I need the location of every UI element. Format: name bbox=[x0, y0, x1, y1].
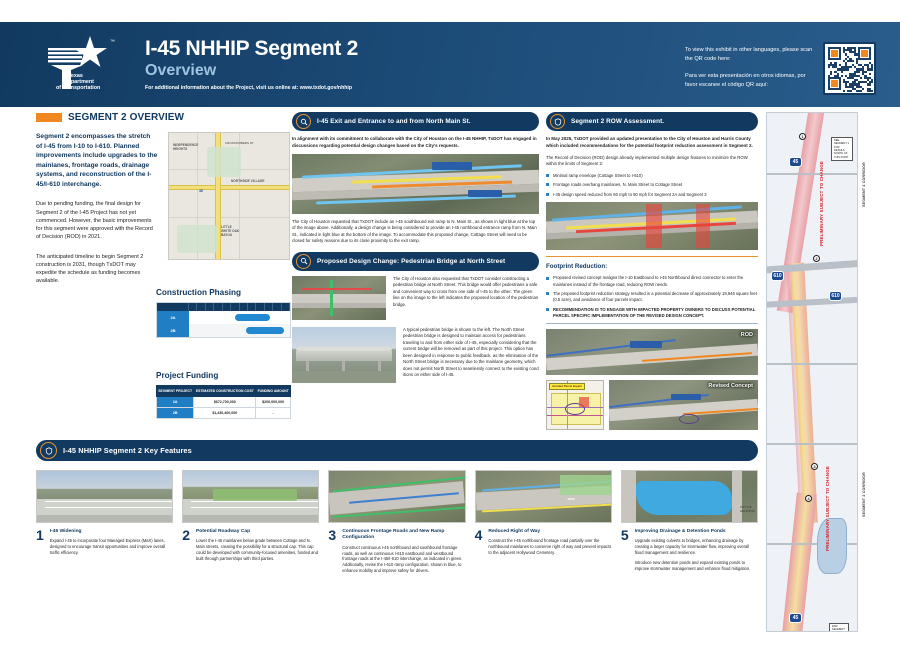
footprint-reduction-title: Footprint Reduction: bbox=[546, 263, 758, 270]
map-shield-i610-east: 610 bbox=[829, 291, 842, 301]
table-row: 2A$672,700,000$200,000,000 bbox=[157, 397, 291, 408]
banner-north-main-ramps: I-45 Exit and Entrance to and from North… bbox=[292, 112, 539, 131]
key-feature-card: NEW4Reduced Right of WayConstruct the I-… bbox=[475, 470, 612, 574]
page-header: ™ Texas Department of Transportation I-4… bbox=[0, 22, 900, 107]
funding-column-header: ESTIMATED CONSTRUCTION COST bbox=[194, 386, 256, 397]
pedestrian-bridge-rendering bbox=[292, 327, 396, 383]
overview-lead-paragraph: Segment 2 encompasses the stretch of I-4… bbox=[36, 132, 158, 189]
qr-module bbox=[828, 75, 830, 77]
footprint-bullet-list: Proposed revised concept realigns the I-… bbox=[546, 275, 758, 319]
key-feature-number: 5 bbox=[621, 529, 629, 571]
list-item: I-45 design speed reduced from 60 mph to… bbox=[546, 192, 758, 198]
shield-icon bbox=[40, 442, 57, 459]
funding-cost: $1,430,400,000 bbox=[194, 408, 256, 419]
gantt-track bbox=[189, 324, 290, 337]
rod-image: ROD bbox=[546, 329, 758, 375]
qr-module bbox=[847, 68, 849, 70]
key-feature-description: Upgrade existing culverts to bridges, en… bbox=[635, 538, 758, 555]
gantt-year-cell bbox=[223, 303, 231, 311]
north-main-aerial bbox=[292, 154, 539, 214]
qr-module bbox=[849, 90, 851, 92]
row-assessment-column: Segment 2 ROW Assessment. In May 2025, T… bbox=[546, 112, 758, 430]
list-item-text: Frontage roads overhang mainlanes, N. Ma… bbox=[553, 182, 682, 188]
bullet-marker bbox=[546, 174, 549, 177]
page-subtitle: Overview bbox=[145, 61, 358, 80]
qr-module bbox=[830, 73, 832, 75]
pedestrian-bridge-body: The City of Houston also requested that … bbox=[393, 276, 539, 320]
gantt-year-cell bbox=[197, 303, 205, 311]
gantt-bar bbox=[235, 314, 269, 321]
qr-module bbox=[858, 71, 860, 73]
gantt-year-cell bbox=[273, 303, 281, 311]
banner-label: Segment 2 ROW Assessment. bbox=[571, 118, 664, 125]
qr-module bbox=[828, 66, 830, 68]
key-feature-title: I-45 Widening bbox=[50, 529, 173, 535]
key-features-row: 1I-45 WideningExpand I-45 to incorporate… bbox=[36, 470, 758, 574]
gantt-year-cell bbox=[256, 303, 264, 311]
funding-column-header: SEGMENT PROJECT bbox=[157, 386, 194, 397]
funding-title: Project Funding bbox=[156, 371, 291, 380]
list-item: Frontage roads overhang mainlanes, N. Ma… bbox=[546, 182, 758, 188]
table-row: 2B$1,430,400,000- bbox=[157, 408, 291, 419]
qr-text-english: To view this exhibit in other languages,… bbox=[685, 46, 813, 63]
bullet-marker bbox=[546, 292, 549, 295]
design-changes-column: I-45 Exit and Entrance to and from North… bbox=[292, 112, 539, 383]
qr-module bbox=[852, 60, 854, 62]
gantt-row: 2B bbox=[157, 324, 290, 337]
gantt-year-cell bbox=[282, 303, 290, 311]
gantt-row: 2A bbox=[157, 311, 290, 324]
banner-label: I-45 NHHIP Segment 2 Key Features bbox=[63, 446, 192, 455]
key-feature-description: Construct the I-45 northbound frontage r… bbox=[488, 538, 611, 555]
segment-overview-title: SEGMENT 2 OVERVIEW bbox=[68, 112, 184, 123]
key-feature-card: 1I-45 WideningExpand I-45 to incorporate… bbox=[36, 470, 173, 574]
gantt-year-cell bbox=[214, 303, 222, 311]
key-feature-description: Construct continuous I-45 northbound and… bbox=[342, 545, 465, 574]
key-feature-caption: 2Potential Roadway CapLower the I-45 mai… bbox=[182, 529, 319, 562]
qr-module bbox=[837, 75, 839, 77]
gantt-bar bbox=[246, 327, 284, 334]
banner-pedestrian-bridge: Proposed Design Change: Pedestrian Bridg… bbox=[292, 252, 539, 271]
magnifier-icon bbox=[296, 254, 311, 269]
gantt-row-label: 2A bbox=[157, 311, 189, 324]
key-feature-number: 2 bbox=[182, 529, 190, 562]
key-feature-title: Continuous Frontage Roads and New Ramp C… bbox=[342, 529, 465, 542]
key-feature-number: 3 bbox=[328, 529, 336, 574]
bullet-marker bbox=[546, 277, 549, 280]
gantt-col-header bbox=[157, 303, 189, 311]
key-feature-title: Reduced Right of Way bbox=[488, 529, 611, 535]
divider bbox=[546, 323, 758, 324]
key-feature-number: 4 bbox=[475, 529, 483, 556]
heading-chip bbox=[36, 113, 62, 122]
qr-module bbox=[862, 88, 864, 90]
revised-concept-image: Revised Concept bbox=[609, 380, 758, 430]
rod-intro: The Record of Decision (ROD) design alre… bbox=[546, 155, 758, 168]
overview-paragraph-2: Due to pending funding, the final design… bbox=[36, 200, 158, 241]
row-footprint-aerial bbox=[546, 202, 758, 250]
key-feature-description-2: Introduce new detention ponds and expand… bbox=[635, 560, 758, 572]
qr-module bbox=[871, 68, 873, 70]
key-feature-description: Expand I-45 to incorporate four Managed … bbox=[50, 538, 173, 555]
north-street-aerial bbox=[292, 276, 386, 320]
qr-module bbox=[841, 71, 843, 73]
gantt-year-cell bbox=[265, 303, 273, 311]
list-item-text: The proposed footprint reduction strateg… bbox=[553, 291, 758, 303]
gantt-row-label: 2B bbox=[157, 324, 189, 337]
inset-callout: Avoided Parcel Impact bbox=[549, 383, 585, 390]
key-feature-card: CITY OF HOUSTON5Improving Drainage & Det… bbox=[621, 470, 758, 574]
qr-module bbox=[856, 53, 858, 55]
key-feature-title: Potential Roadway Cap bbox=[196, 529, 319, 535]
map-side-label-2: SEGMENT 2 CORRIDOR bbox=[862, 440, 866, 550]
map-callout-4: 4 bbox=[805, 495, 812, 502]
bullet-marker bbox=[546, 183, 549, 186]
qr-module bbox=[849, 66, 851, 68]
funding-table: SEGMENT PROJECTESTIMATED CONSTRUCTION CO… bbox=[156, 385, 291, 419]
segment-corridor-map[interactable]: 45 610 610 45 1 2 3 4 PRELIMINARY SUBJEC… bbox=[766, 112, 858, 632]
qr-module bbox=[871, 81, 873, 83]
key-feature-title: Improving Drainage & Detention Ponds bbox=[635, 529, 758, 535]
banner-label: I-45 Exit and Entrance to and from North… bbox=[317, 118, 471, 125]
map-disclaimer-bottom: PRELIMINARY SUBJECT TO CHANGE bbox=[825, 448, 831, 568]
avoided-parcel-inset: Avoided Parcel Impact bbox=[546, 380, 604, 430]
list-item-text: I-45 design speed reduced from 60 mph to… bbox=[553, 192, 707, 198]
row-intro: In May 2025, TxDOT provided an updated p… bbox=[546, 136, 758, 150]
phasing-title: Construction Phasing bbox=[156, 288, 291, 297]
map-shield-i45-south: 45 bbox=[789, 613, 802, 623]
qr-module bbox=[869, 83, 871, 85]
gantt-header-row bbox=[157, 303, 290, 311]
qr-module bbox=[841, 75, 843, 77]
banner-row-assessment: Segment 2 ROW Assessment. bbox=[546, 112, 758, 131]
key-feature-card: 3Continuous Frontage Roads and New Ramp … bbox=[328, 470, 465, 574]
banner-key-features: I-45 NHHIP Segment 2 Key Features bbox=[36, 440, 758, 461]
key-feature-caption: 3Continuous Frontage Roads and New Ramp … bbox=[328, 529, 465, 574]
gantt-year-cell bbox=[240, 303, 248, 311]
construction-phasing: Construction Phasing 2A2B bbox=[156, 288, 291, 338]
qr-module bbox=[860, 90, 862, 92]
north-main-intro: In alignment with its commitment to coll… bbox=[292, 136, 539, 150]
rod-bullet-list: Minimal ramp envelope (Cottage Street to… bbox=[546, 173, 758, 198]
key-feature-caption: 4Reduced Right of WayConstruct the I-45 … bbox=[475, 529, 612, 556]
map-side-label: SEGMENT 2 CORRIDOR bbox=[862, 130, 866, 240]
map-shield-i610-west: 610 bbox=[771, 271, 784, 281]
bullet-marker bbox=[546, 193, 549, 196]
overview-paragraph-3: The anticipated timeline to begin Segmen… bbox=[36, 253, 158, 286]
funding-segment: 2A bbox=[157, 397, 194, 408]
key-features-section: I-45 NHHIP Segment 2 Key Features 1I-45 … bbox=[36, 440, 758, 574]
phasing-gantt: 2A2B bbox=[156, 302, 291, 338]
segment-location-map: INDEPENDENCEHEIGHTS CROSSTIMBERS ST NORT… bbox=[168, 132, 290, 260]
magnifier-icon bbox=[296, 114, 311, 129]
funding-amount: $200,000,000 bbox=[256, 397, 291, 408]
key-feature-description: Lower the I-45 mainlanes below grade bet… bbox=[196, 538, 319, 561]
revised-concept-row: Avoided Parcel Impact Revised Concept bbox=[546, 380, 758, 430]
funding-column-header: FUNDING AMOUNT bbox=[256, 386, 291, 397]
key-feature-number: 1 bbox=[36, 529, 44, 556]
segment-overview-heading: SEGMENT 2 OVERVIEW bbox=[36, 112, 158, 123]
map-callout-1: 1 bbox=[799, 133, 806, 140]
qr-module bbox=[860, 77, 862, 79]
list-item-text: Minimal ramp envelope (Cottage Street to… bbox=[553, 173, 643, 179]
rod-label: ROD bbox=[741, 332, 753, 338]
key-feature-caption: 5Improving Drainage & Detention PondsUpg… bbox=[621, 529, 758, 571]
bullet-marker bbox=[546, 308, 549, 311]
segment-overview-column: SEGMENT 2 OVERVIEW Segment 2 encompasses… bbox=[36, 112, 158, 286]
list-item: Proposed revised concept realigns the I-… bbox=[546, 275, 758, 287]
key-feature-image: CITY OF HOUSTON bbox=[621, 470, 758, 523]
key-feature-image: NEW bbox=[475, 470, 612, 523]
list-item-text: Proposed revised concept realigns the I-… bbox=[553, 275, 758, 287]
map-note-bottom: END SEGMENT 2 BEGIN SEGMENT 3 bbox=[829, 623, 849, 632]
key-feature-image bbox=[36, 470, 173, 523]
funding-cost: $672,700,000 bbox=[194, 397, 256, 408]
divider bbox=[546, 256, 758, 258]
funding-segment: 2B bbox=[157, 408, 194, 419]
gantt-track bbox=[189, 311, 290, 324]
gantt-year-cell bbox=[206, 303, 214, 311]
key-feature-caption: 1I-45 WideningExpand I-45 to incorporate… bbox=[36, 529, 173, 556]
key-feature-image bbox=[328, 470, 465, 523]
revised-concept-label: Revised Concept bbox=[708, 383, 753, 389]
pedestrian-bridge-body-2: A typical pedestrian bridge is shown to … bbox=[403, 327, 539, 383]
list-item: The proposed footprint reduction strateg… bbox=[546, 291, 758, 303]
qr-code[interactable] bbox=[823, 42, 876, 95]
svg-text:™: ™ bbox=[110, 39, 115, 45]
map-shield-i45-north: 45 bbox=[789, 157, 802, 167]
list-item-text: RECOMMENDATION IS TO ENGAGE WITH IMPACTE… bbox=[553, 307, 758, 319]
project-funding: Project Funding SEGMENT PROJECTESTIMATED… bbox=[156, 371, 291, 419]
banner-label: Proposed Design Change: Pedestrian Bridg… bbox=[317, 258, 505, 265]
map-callout-3: 3 bbox=[811, 463, 818, 470]
map-disclaimer-top: PRELIMINARY SUBJECT TO CHANGE bbox=[819, 143, 825, 263]
gantt-year-cell bbox=[231, 303, 239, 311]
logo-line-3: of Transportation bbox=[56, 85, 100, 91]
north-main-body: The City of Houston requested that TxDOT… bbox=[292, 219, 539, 245]
txdot-logo: ™ Texas Department of Transportation bbox=[38, 34, 133, 96]
list-item-recommendation: RECOMMENDATION IS TO ENGAGE WITH IMPACTE… bbox=[546, 307, 758, 319]
shield-icon bbox=[550, 114, 565, 129]
qr-block: To view this exhibit in other languages,… bbox=[685, 42, 876, 95]
gantt-year-cell bbox=[189, 303, 197, 311]
key-feature-card: 2Potential Roadway CapLower the I-45 mai… bbox=[182, 470, 319, 574]
qr-text-spanish: Para ver esta presentación en otros idio… bbox=[685, 72, 813, 89]
header-note: For additional information about the Pro… bbox=[145, 85, 358, 91]
qr-module bbox=[843, 90, 845, 92]
qr-module bbox=[871, 90, 873, 92]
page-title: I-45 NHHIP Segment 2 bbox=[145, 38, 358, 60]
map-lake bbox=[817, 518, 847, 574]
qr-module bbox=[864, 71, 866, 73]
map-note-top: SEE SEGMENT 1 FOR DETAILS NORTH OF THIS … bbox=[831, 137, 853, 161]
key-feature-image bbox=[182, 470, 319, 523]
list-item: Minimal ramp envelope (Cottage Street to… bbox=[546, 173, 758, 179]
funding-amount: - bbox=[256, 408, 291, 419]
qr-module bbox=[869, 73, 871, 75]
gantt-year-cell bbox=[248, 303, 256, 311]
